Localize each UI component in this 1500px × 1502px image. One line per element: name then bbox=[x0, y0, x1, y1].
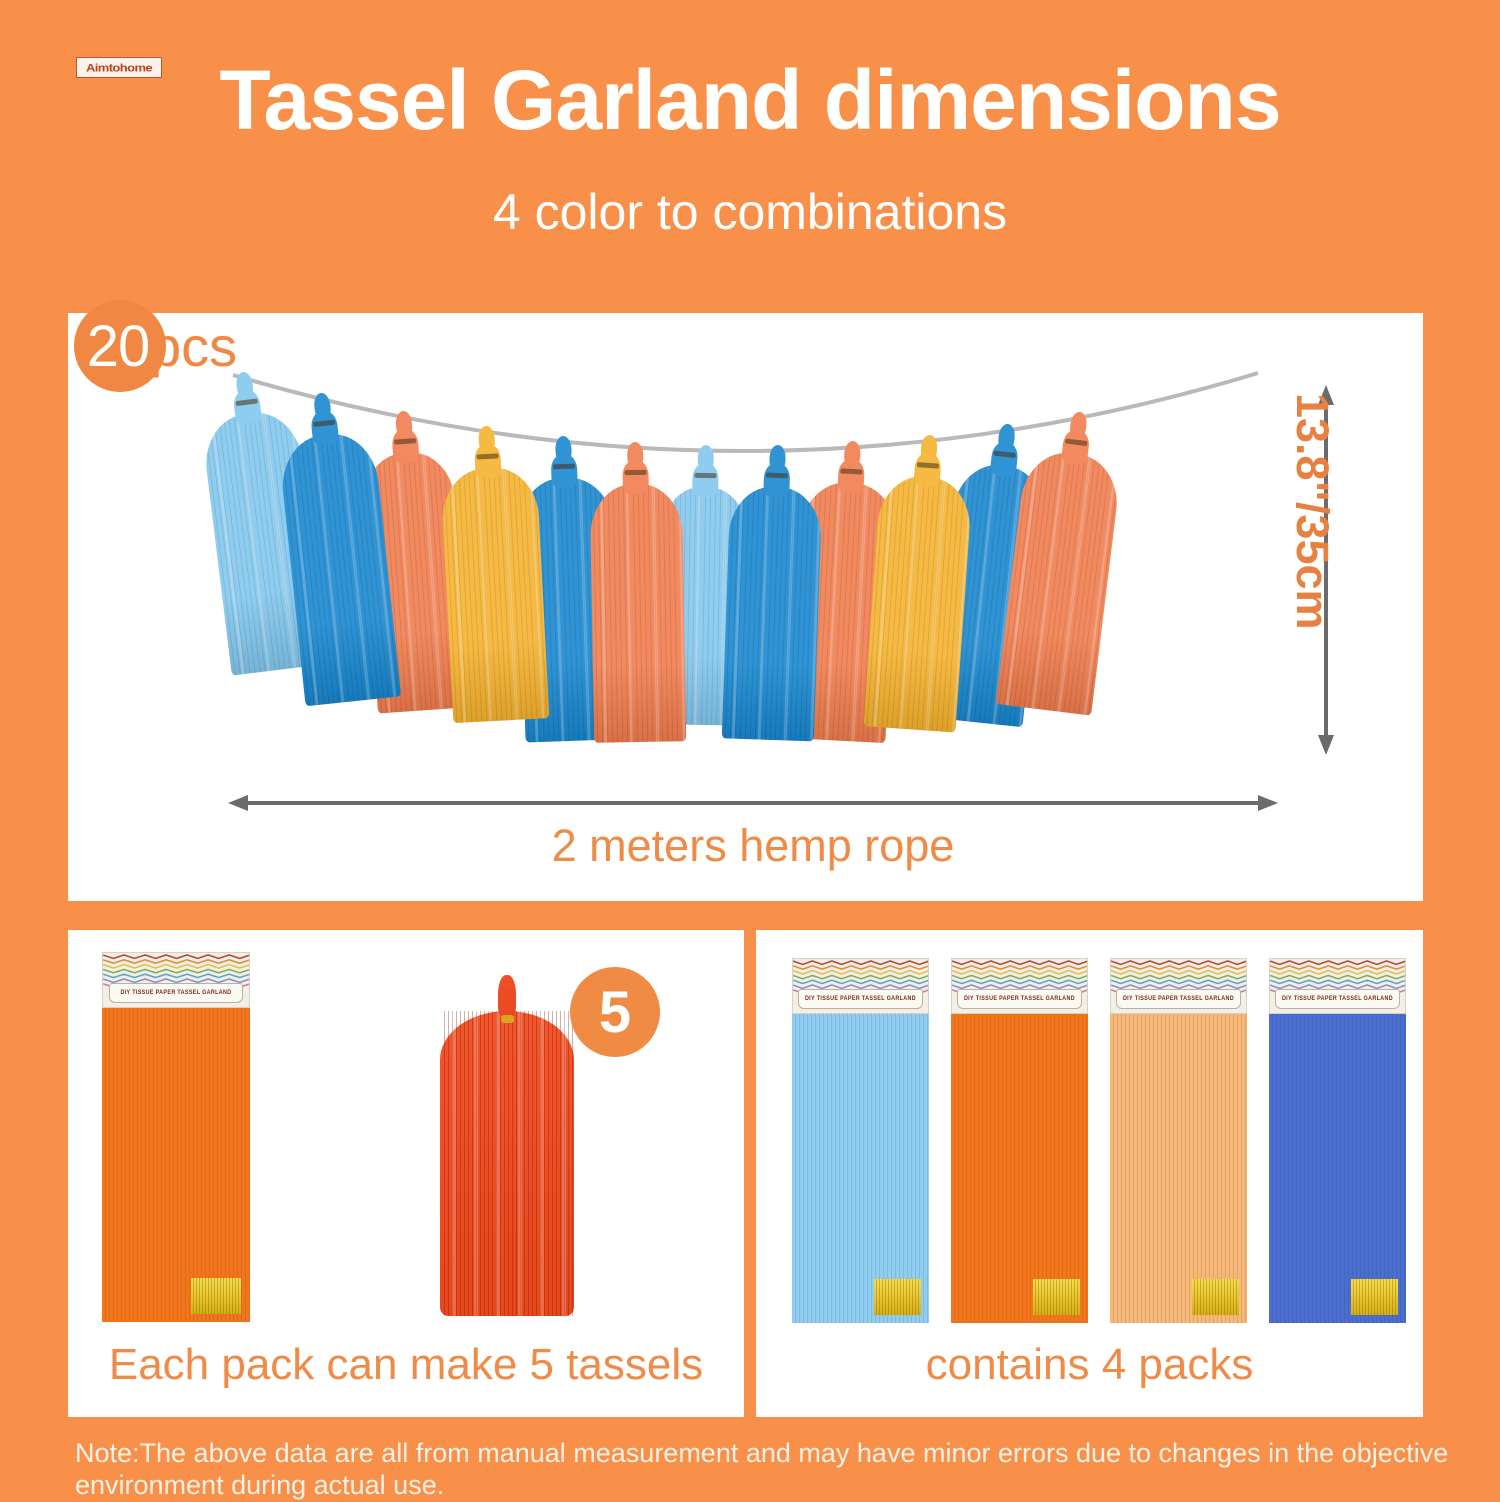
pack-header-label: DIY TISSUE PAPER TASSEL GARLAND bbox=[951, 958, 1088, 1014]
pack-header-label: DIY TISSUE PAPER TASSEL GARLAND bbox=[1110, 958, 1247, 1014]
tassel-fringe bbox=[722, 485, 823, 741]
pack-gold-twist-tie bbox=[1033, 1279, 1080, 1315]
garland-tassel bbox=[589, 441, 686, 743]
pack-light-blue: DIY TISSUE PAPER TASSEL GARLAND bbox=[792, 958, 929, 1323]
pack-title-text: DIY TISSUE PAPER TASSEL GARLAND bbox=[120, 990, 231, 997]
page-title: Tassel Garland dimensions bbox=[0, 56, 1500, 144]
pack-title-plate: DIY TISSUE PAPER TASSEL GARLAND bbox=[1116, 989, 1240, 1009]
chevron-pattern-icon bbox=[952, 959, 1087, 993]
pack-header-label: DIY TISSUE PAPER TASSEL GARLAND bbox=[792, 958, 929, 1014]
tassel-tie bbox=[624, 469, 646, 474]
pack-title-text: DIY TISSUE PAPER TASSEL GARLAND bbox=[805, 996, 916, 1003]
pack-header-label: DIY TISSUE PAPER TASSEL GARLAND bbox=[102, 952, 250, 1008]
chevron-pattern-icon bbox=[1111, 959, 1246, 993]
tassel-tie bbox=[476, 453, 498, 459]
pack-gold-twist-tie bbox=[874, 1279, 921, 1315]
length-dimension-arrow bbox=[228, 790, 1278, 816]
pack-tissue-fringe bbox=[102, 1007, 250, 1322]
tassel-fringe bbox=[440, 465, 549, 723]
single-pack-caption: Each pack can make 5 tassels bbox=[68, 1340, 744, 1390]
tassel-fringe bbox=[590, 483, 686, 743]
tassel-knot bbox=[555, 435, 572, 462]
chevron-pattern-icon bbox=[793, 959, 928, 993]
pack-orange: DIY TISSUE PAPER TASSEL GARLAND bbox=[102, 952, 250, 1322]
quantity-badge-number: 20 bbox=[80, 306, 156, 386]
pack-tissue-fringe bbox=[1110, 1013, 1247, 1323]
pack-header-label: DIY TISSUE PAPER TASSEL GARLAND bbox=[1269, 958, 1406, 1014]
tassel-knot bbox=[698, 444, 714, 470]
tassel-fringe bbox=[864, 473, 973, 732]
height-dimension-label: 13.8"/35cm bbox=[1284, 393, 1338, 753]
pack-title-plate: DIY TISSUE PAPER TASSEL GARLAND bbox=[957, 989, 1081, 1009]
pack-peach: DIY TISSUE PAPER TASSEL GARLAND bbox=[1110, 958, 1247, 1323]
four-packs-caption: contains 4 packs bbox=[756, 1340, 1423, 1390]
tassel-knot bbox=[498, 975, 516, 1019]
tassels-per-pack-badge: 5 bbox=[570, 967, 660, 1057]
pack-title-text: DIY TISSUE PAPER TASSEL GARLAND bbox=[1282, 996, 1393, 1003]
pack-gold-twist-tie bbox=[191, 1278, 241, 1314]
pack-title-plate: DIY TISSUE PAPER TASSEL GARLAND bbox=[798, 989, 922, 1009]
chevron-pattern-icon bbox=[103, 953, 249, 987]
garland-tassel bbox=[722, 443, 824, 741]
tassel-knot bbox=[313, 392, 332, 420]
pack-title-text: DIY TISSUE PAPER TASSEL GARLAND bbox=[964, 996, 1075, 1003]
pack-title-plate: DIY TISSUE PAPER TASSEL GARLAND bbox=[109, 983, 243, 1003]
page-subtitle: 4 color to combinations bbox=[0, 185, 1500, 240]
pack-title-plate: DIY TISSUE PAPER TASSEL GARLAND bbox=[1275, 989, 1399, 1009]
pack-title-text: DIY TISSUE PAPER TASSEL GARLAND bbox=[1123, 996, 1234, 1003]
pack-tissue-fringe bbox=[1269, 1013, 1406, 1323]
tassel-fringe bbox=[432, 1011, 582, 1316]
pack-royal-blue: DIY TISSUE PAPER TASSEL GARLAND bbox=[1269, 958, 1406, 1323]
pack-tissue-fringe bbox=[951, 1013, 1088, 1323]
length-dimension-label: 2 meters hemp rope bbox=[228, 820, 1278, 872]
tassel-tie bbox=[917, 462, 939, 469]
disclaimer-note: Note:The above data are all from manual … bbox=[75, 1437, 1465, 1502]
tassel-knot bbox=[478, 425, 495, 452]
tassel-tie bbox=[553, 463, 575, 469]
finished-tassel-illustration bbox=[432, 975, 582, 1320]
pack-tissue-fringe bbox=[792, 1013, 929, 1323]
chevron-pattern-icon bbox=[1270, 959, 1405, 993]
tassel-knot bbox=[627, 441, 643, 467]
garland-tassel bbox=[438, 423, 549, 723]
pack-gold-twist-tie bbox=[1351, 1279, 1398, 1315]
tassel-knot bbox=[920, 434, 938, 461]
pack-orange: DIY TISSUE PAPER TASSEL GARLAND bbox=[951, 958, 1088, 1323]
tassel-tie bbox=[766, 472, 788, 478]
tassel-knot bbox=[769, 444, 786, 471]
tassel-knot bbox=[395, 411, 413, 438]
tassel-tie bbox=[694, 472, 716, 477]
pack-gold-twist-tie bbox=[1192, 1279, 1239, 1315]
tassel-tie-ring bbox=[501, 1015, 514, 1023]
